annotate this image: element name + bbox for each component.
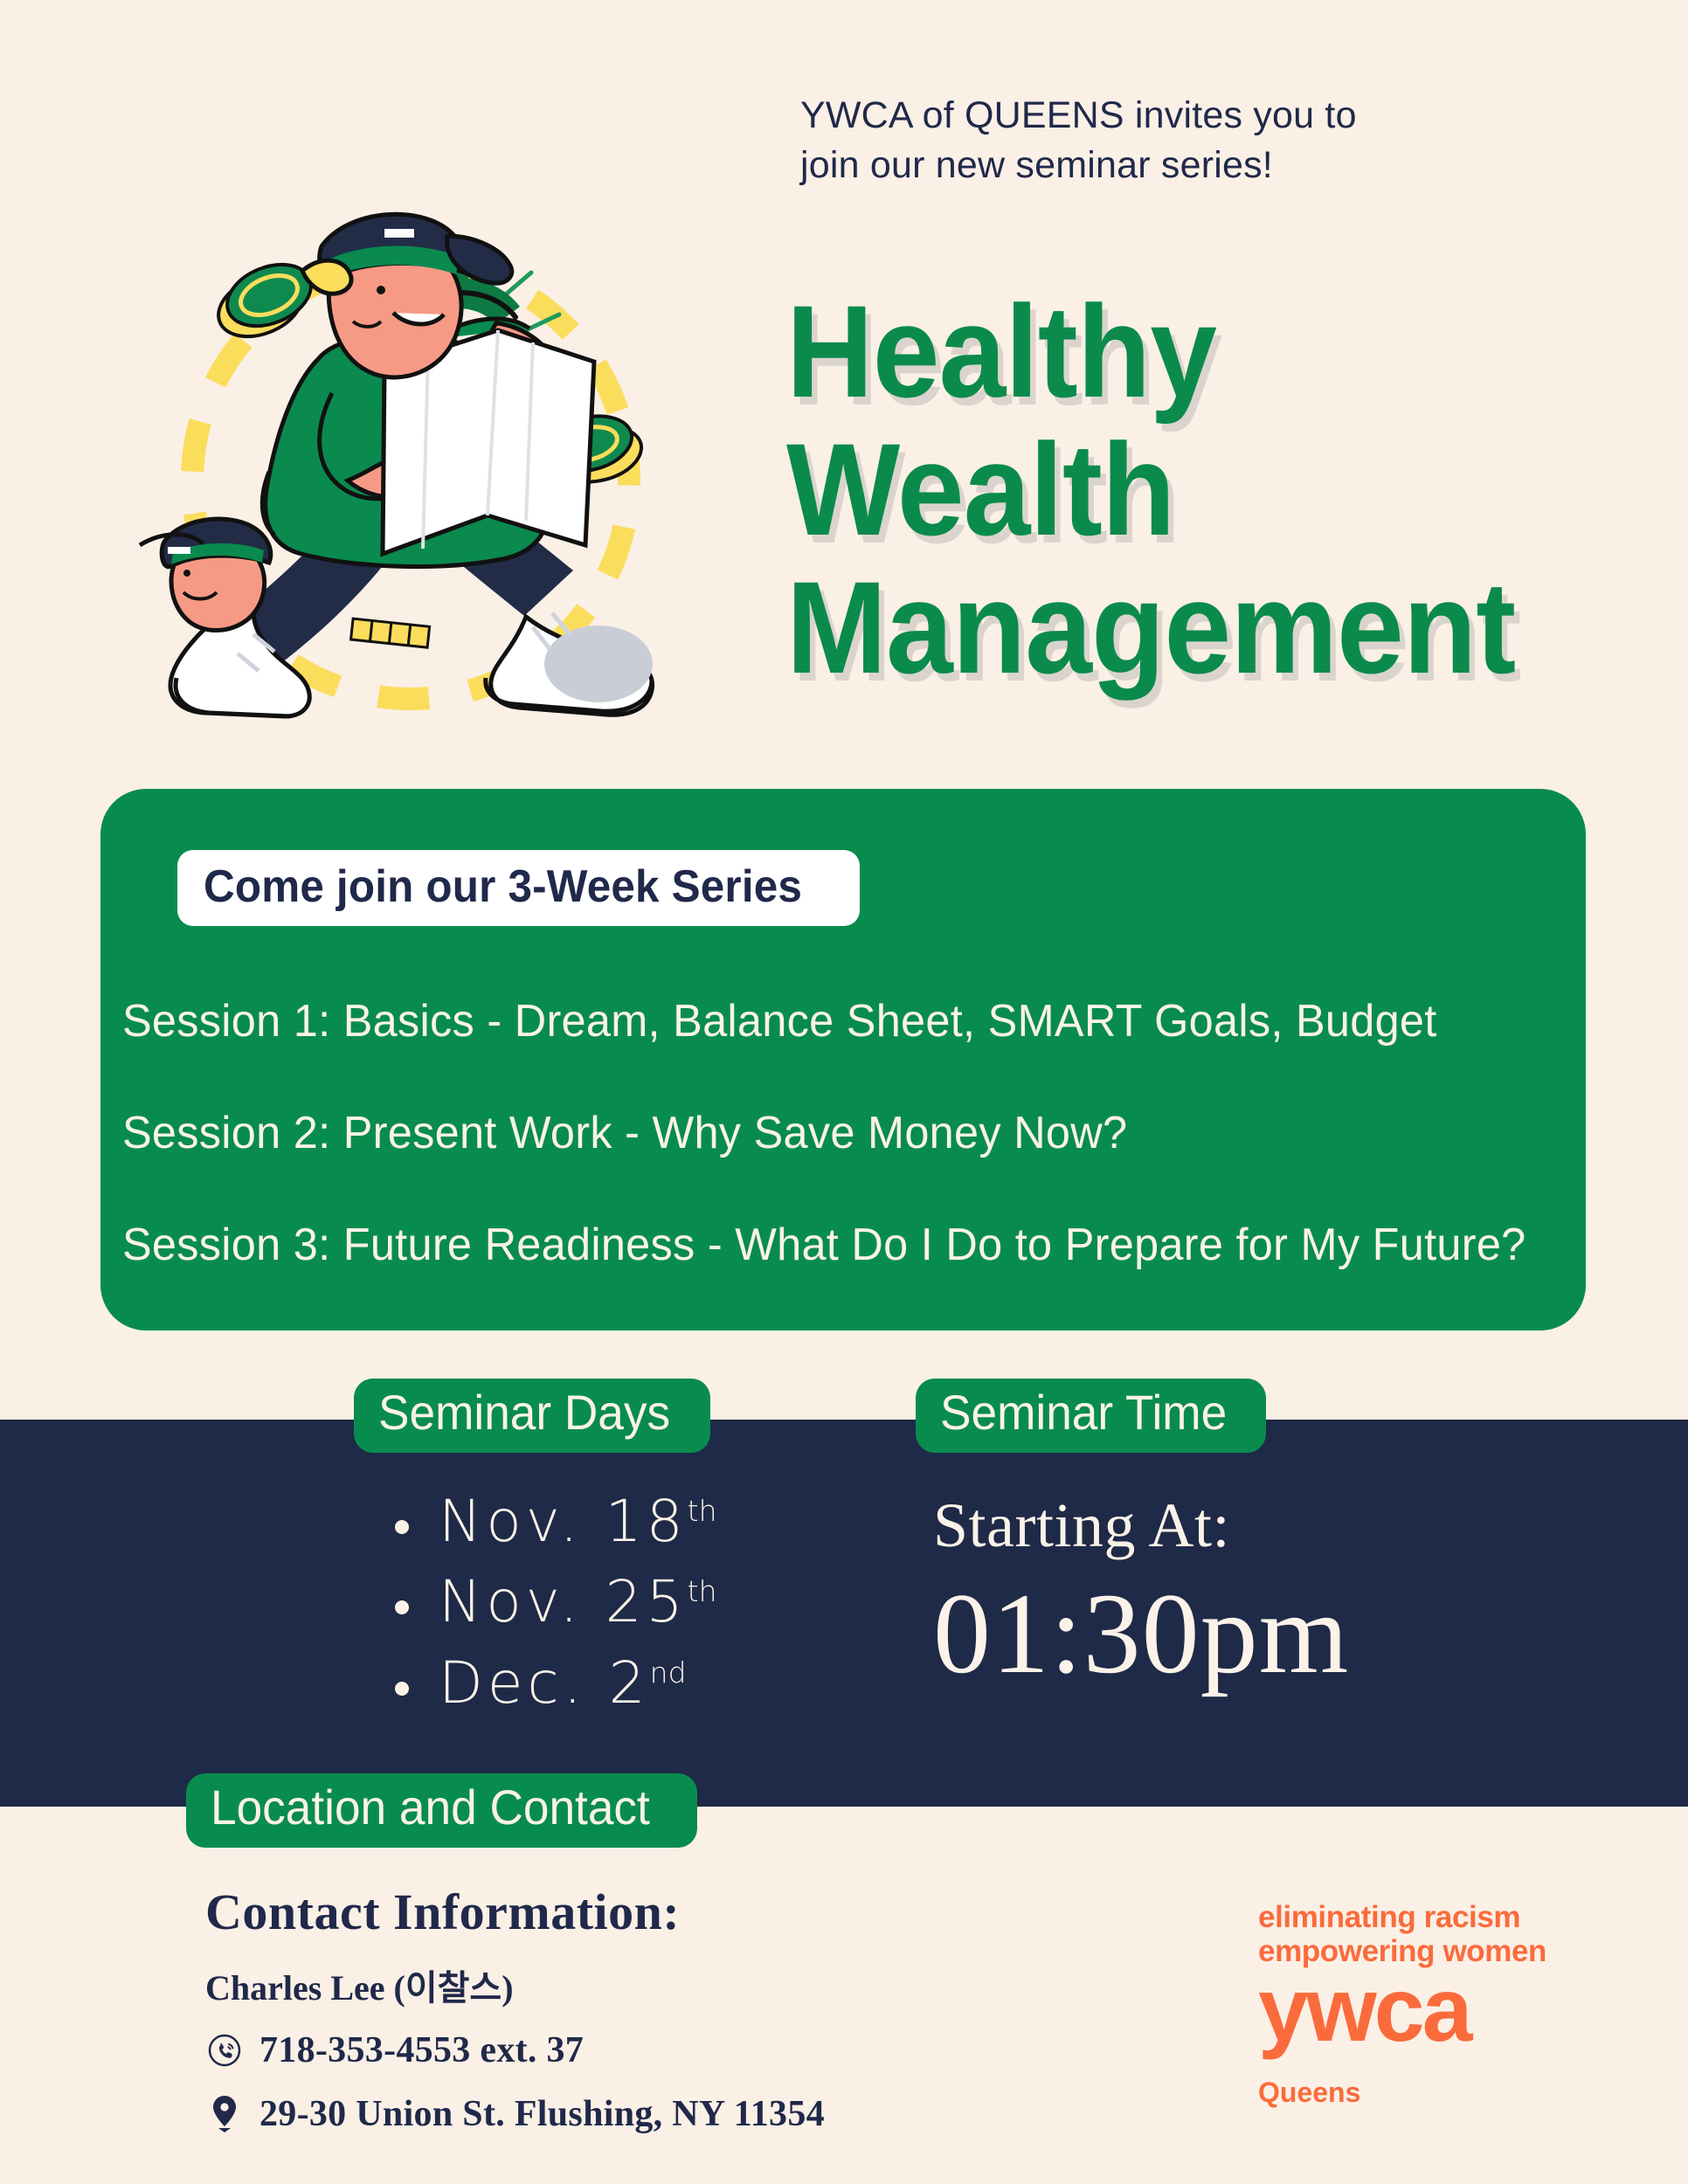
logo-wordmark: ywca: [1258, 1970, 1608, 2052]
map-pin-icon: [205, 2095, 244, 2133]
seminar-time-block: Starting At: 01:30pm: [933, 1494, 1349, 1691]
hero-illustration: [122, 105, 760, 786]
flyer-page: YWCA of QUEENS invites you to join our n…: [0, 0, 1688, 2184]
starting-at-label: Starting At:: [933, 1494, 1349, 1557]
small-figure-head: [140, 519, 271, 630]
schedule-band: [0, 1420, 1688, 1807]
ywca-logo: eliminating racism empowering women ywca…: [1258, 1900, 1608, 2106]
seminar-days-label: Seminar Days: [378, 1387, 670, 1439]
session-item: Session 3: Future Readiness - What Do I …: [122, 1222, 1529, 1268]
date-text: Dec. 2: [439, 1649, 650, 1717]
date-text: Nov. 25: [439, 1568, 688, 1635]
date-ordinal: th: [688, 1494, 717, 1528]
invite-line-1: YWCA of QUEENS invites you to: [800, 91, 1464, 141]
contact-heading: Contact Information:: [205, 1887, 992, 1938]
cash-stack: [351, 619, 430, 647]
list-item: Nov. 25th: [384, 1565, 717, 1639]
list-item: Nov. 18th: [384, 1485, 717, 1559]
session-item: Session 1: Basics - Dream, Balance Sheet…: [122, 999, 1529, 1044]
seminar-days-badge: Seminar Days: [354, 1379, 710, 1453]
logo-tagline-1: eliminating racism: [1258, 1900, 1608, 1934]
sessions-panel: Come join our 3-Week Series Session 1: B…: [100, 789, 1586, 1330]
title-line-2: Wealth: [786, 426, 1590, 552]
invite-line-2: join our new seminar series!: [800, 141, 1464, 190]
session-item: Session 2: Present Work - Why Save Money…: [122, 1110, 1529, 1156]
page-title: Healthy Wealth Management: [786, 288, 1660, 702]
contact-phone: 718-353-4553 ext. 37: [259, 2032, 584, 2069]
contact-address-row[interactable]: 29-30 Union St. Flushing, NY 11354: [205, 2095, 992, 2133]
invite-text: YWCA of QUEENS invites you to join our n…: [800, 91, 1464, 190]
contact-name: Charles Lee (이찰스): [205, 1971, 992, 2006]
date-ordinal: nd: [650, 1655, 687, 1690]
location-contact-badge: Location and Contact: [186, 1773, 697, 1848]
logo-city: Queens: [1258, 2078, 1608, 2106]
session-list: Session 1: Basics - Dream, Balance Sheet…: [122, 999, 1573, 1334]
list-item: Dec. 2nd: [384, 1647, 717, 1720]
series-badge: Come join our 3-Week Series: [177, 850, 860, 926]
date-text: Nov. 18: [439, 1488, 688, 1555]
series-badge-label: Come join our 3-Week Series: [204, 864, 802, 909]
seminar-dates-list: Nov. 18th Nov. 25th Dec. 2nd: [384, 1485, 717, 1727]
title-line-1: Healthy: [786, 288, 1590, 414]
seminar-time-badge: Seminar Time: [916, 1379, 1266, 1453]
location-contact-label: Location and Contact: [211, 1782, 650, 1834]
phone-icon: [205, 2033, 244, 2068]
date-ordinal: th: [688, 1574, 717, 1608]
contact-phone-row[interactable]: 718-353-4553 ext. 37: [205, 2032, 992, 2069]
contact-information: Contact Information: Charles Lee (이찰스) 7…: [205, 1887, 992, 2133]
seminar-time-label: Seminar Time: [940, 1387, 1227, 1439]
title-line-3: Management: [786, 564, 1590, 690]
contact-address: 29-30 Union St. Flushing, NY 11354: [259, 2096, 825, 2132]
start-time-value: 01:30pm: [933, 1576, 1349, 1691]
